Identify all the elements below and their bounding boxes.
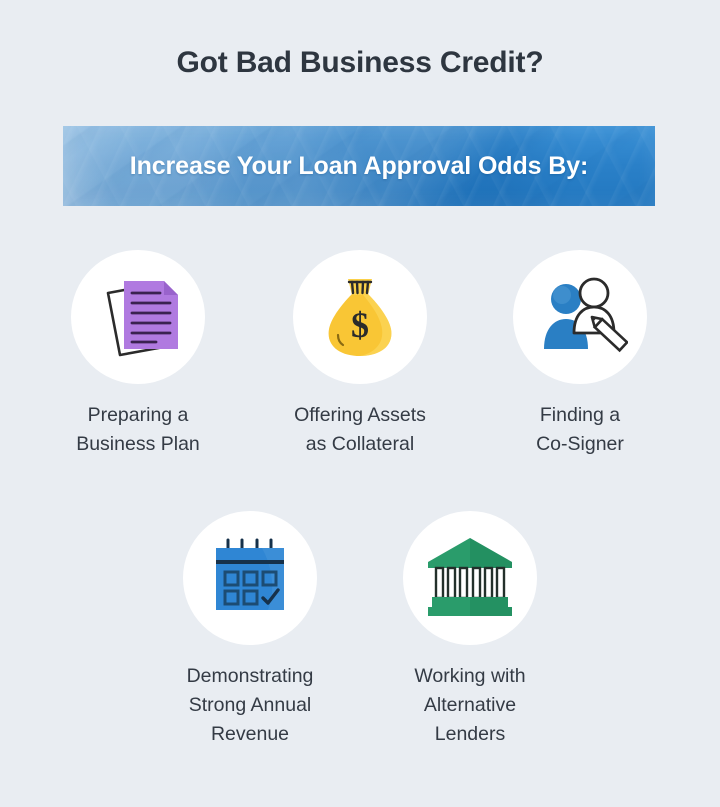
item-label: Finding a Co-Signer <box>480 401 680 459</box>
item-annual-revenue[interactable]: Demonstrating Strong Annual Revenue <box>150 511 350 749</box>
documents-icon <box>90 267 186 368</box>
item-label: Working with Alternative Lenders <box>370 662 570 749</box>
bank-building-icon <box>422 528 518 629</box>
calendar-check-icon <box>202 528 298 629</box>
icon-circle: $ <box>293 250 427 384</box>
icon-circle <box>513 250 647 384</box>
item-label: Demonstrating Strong Annual Revenue <box>150 662 350 749</box>
icon-circle <box>403 511 537 645</box>
banner-text: Increase Your Loan Approval Odds By: <box>63 126 655 206</box>
page-title: Got Bad Business Credit? <box>0 46 720 80</box>
item-alternative-lenders[interactable]: Working with Alternative Lenders <box>370 511 570 749</box>
icon-circle <box>71 250 205 384</box>
co-signer-icon <box>532 267 628 368</box>
item-label: Offering Assets as Collateral <box>260 401 460 459</box>
svg-text:$: $ <box>351 305 369 345</box>
money-bag-icon: $ <box>312 267 408 368</box>
banner: Increase Your Loan Approval Odds By: <box>63 126 655 206</box>
item-business-plan[interactable]: Preparing a Business Plan <box>38 250 238 459</box>
infographic-root: Got Bad Business Credit? Increase Your L… <box>0 0 720 807</box>
item-label: Preparing a Business Plan <box>38 401 238 459</box>
item-collateral[interactable]: $ Offering Assets as Collateral <box>260 250 460 459</box>
icon-circle <box>183 511 317 645</box>
item-co-signer[interactable]: Finding a Co-Signer <box>480 250 680 459</box>
